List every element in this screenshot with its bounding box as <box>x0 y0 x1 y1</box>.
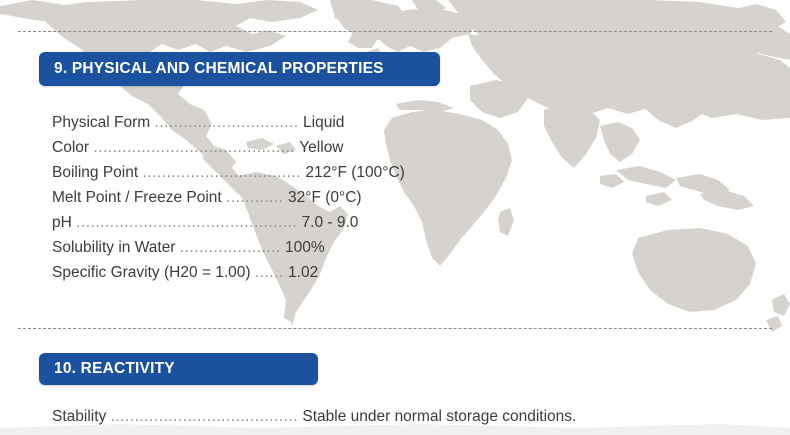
section-header-physical-and-chemical-properties: 9. PHYSICAL AND CHEMICAL PROPERTIES <box>39 52 440 86</box>
property-label: Physical Form <box>52 114 150 131</box>
property-label: Color <box>52 139 89 156</box>
property-value: 7.0 - 9.0 <box>302 214 359 231</box>
property-value: Stable under normal storage conditions. <box>302 408 576 425</box>
property-label: Boiling Point <box>52 164 138 181</box>
section-header-label: 10. REACTIVITY <box>39 361 175 377</box>
dot-leader: ........................................… <box>93 139 295 156</box>
section-header-reactivity: 10. REACTIVITY <box>39 353 318 385</box>
property-row-stability: Stability ..............................… <box>52 404 576 429</box>
property-label: Specific Gravity (H20 = 1.00) <box>52 264 251 281</box>
property-row-specific-gravity: Specific Gravity (H20 = 1.00) ...... 1.0… <box>52 260 405 285</box>
dot-leader: ............ <box>226 189 284 206</box>
section-header-label: 9. PHYSICAL AND CHEMICAL PROPERTIES <box>39 61 384 77</box>
property-value: Yellow <box>299 139 343 156</box>
section-divider-middle <box>18 328 772 329</box>
sds-page: 9. PHYSICAL AND CHEMICAL PROPERTIES Phys… <box>0 0 790 435</box>
property-value: 100% <box>285 239 325 256</box>
property-row-solubility-in-water: Solubility in Water ....................… <box>52 235 405 260</box>
property-row-physical-form: Physical Form ..........................… <box>52 110 405 135</box>
section-divider-top <box>18 31 772 32</box>
dot-leader: ..................... <box>180 239 281 256</box>
property-row-ph: pH .....................................… <box>52 210 405 235</box>
property-label: pH <box>52 214 72 231</box>
dot-leader: ....................................... <box>111 408 298 425</box>
property-label: Melt Point / Freeze Point <box>52 189 222 206</box>
property-label: Stability <box>52 408 106 425</box>
property-row-melt-point-freeze-point: Melt Point / Freeze Point ............ 3… <box>52 185 405 210</box>
property-row-boiling-point: Boiling Point ..........................… <box>52 160 405 185</box>
dot-leader: .............................. <box>155 114 299 131</box>
dot-leader: ........................................… <box>76 214 297 231</box>
property-row-color: Color ..................................… <box>52 135 405 160</box>
property-value: Liquid <box>303 114 344 131</box>
property-value: 32°F (0°C) <box>288 189 362 206</box>
reactivity-list: Stability ..............................… <box>52 404 576 429</box>
property-label: Solubility in Water <box>52 239 175 256</box>
dot-leader: ...... <box>255 264 284 281</box>
physical-properties-list: Physical Form ..........................… <box>52 110 405 285</box>
property-value: 212°F (100°C) <box>305 164 404 181</box>
property-value: 1.02 <box>288 264 318 281</box>
dot-leader: ................................. <box>142 164 301 181</box>
